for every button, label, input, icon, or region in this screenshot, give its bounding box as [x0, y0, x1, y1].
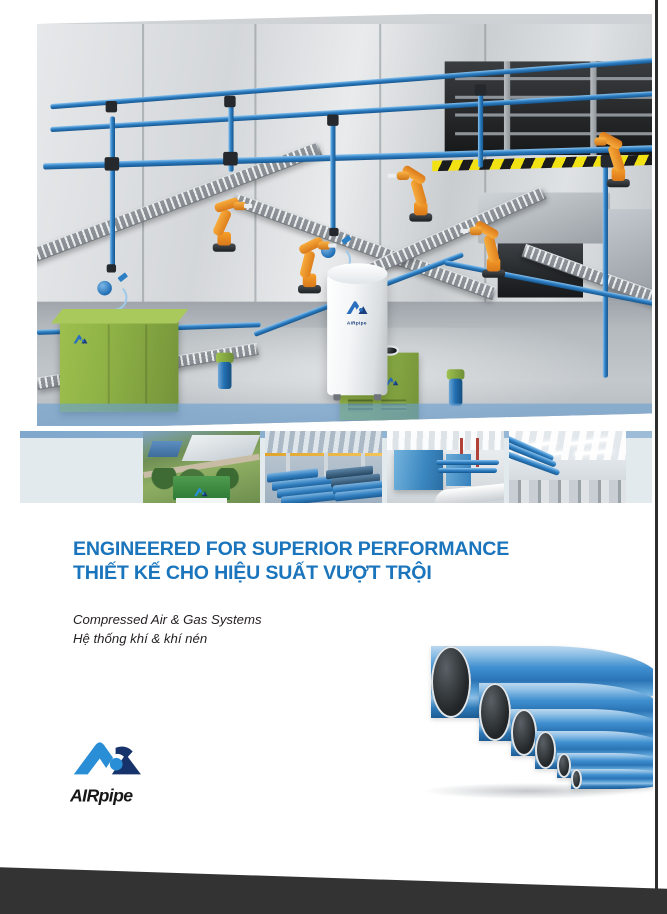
- headline-block: ENGINEERED FOR SUPERIOR PERFORMANCE THIẾ…: [73, 537, 593, 585]
- airpipe-wordmark: AIRpipe: [70, 784, 168, 807]
- pipe-6: [571, 769, 653, 789]
- pipe-drop-1: [109, 117, 114, 269]
- robot-arm-2: [294, 243, 325, 293]
- thumb-clean-production-hall[interactable]: [509, 431, 626, 503]
- blue-aluminium-pipes-photo: [405, 636, 653, 826]
- airpipe-mark-icon: [70, 334, 93, 344]
- headline-vietnamese: THIẾT KẾ CHO HIỆU SUẤT VƯỢT TRỘI: [73, 561, 593, 585]
- air-filter-1: [218, 353, 232, 388]
- pipe-drop-4: [478, 91, 483, 167]
- airpipe-mark-icon: [193, 487, 210, 497]
- robot-arm-4: [478, 230, 509, 278]
- wordmark-text: AIRpipe: [70, 785, 133, 805]
- airpipe-mark-icon: [343, 300, 370, 316]
- thumb-warehouse-pipe-stacks[interactable]: [265, 431, 382, 503]
- air-compressor-unit: [60, 319, 178, 412]
- pipe-drop-5: [603, 159, 608, 378]
- headline-english: ENGINEERED FOR SUPERIOR PERFORMANCE: [73, 537, 593, 561]
- robot-arm-3: [406, 176, 437, 222]
- air-filter-2: [448, 369, 462, 404]
- hero-blue-overlay-band: [37, 404, 652, 426]
- hero-photo: AIRpipe: [20, 14, 652, 426]
- brochure-cover-page: AIRpipe: [0, 0, 667, 914]
- robot-arm-5: [603, 142, 634, 188]
- page-edge-bottom: [0, 854, 667, 914]
- thumb-compressor-room[interactable]: [387, 431, 504, 503]
- page-edge-right: [655, 0, 658, 900]
- tank-logo-wordmark: AIRpipe: [343, 320, 370, 325]
- thumb-aerial-factory[interactable]: AIRpipe: [143, 431, 260, 503]
- subtitle-vietnamese: Hệ thống khí & khí nén: [73, 630, 262, 649]
- thumbnail-filmstrip: AIRpipe: [20, 431, 652, 503]
- subtitle-english: Compressed Air & Gas Systems: [73, 611, 262, 630]
- airpipe-logo[interactable]: AIRpipe: [70, 740, 200, 807]
- subtitle-block: Compressed Air & Gas Systems Hệ thống kh…: [73, 611, 262, 648]
- pipe-drop-3: [330, 121, 335, 231]
- robot-arm-1: [208, 205, 239, 252]
- air-receiver-tank: AIRpipe: [327, 272, 387, 395]
- airpipe-mark-icon: [70, 740, 146, 777]
